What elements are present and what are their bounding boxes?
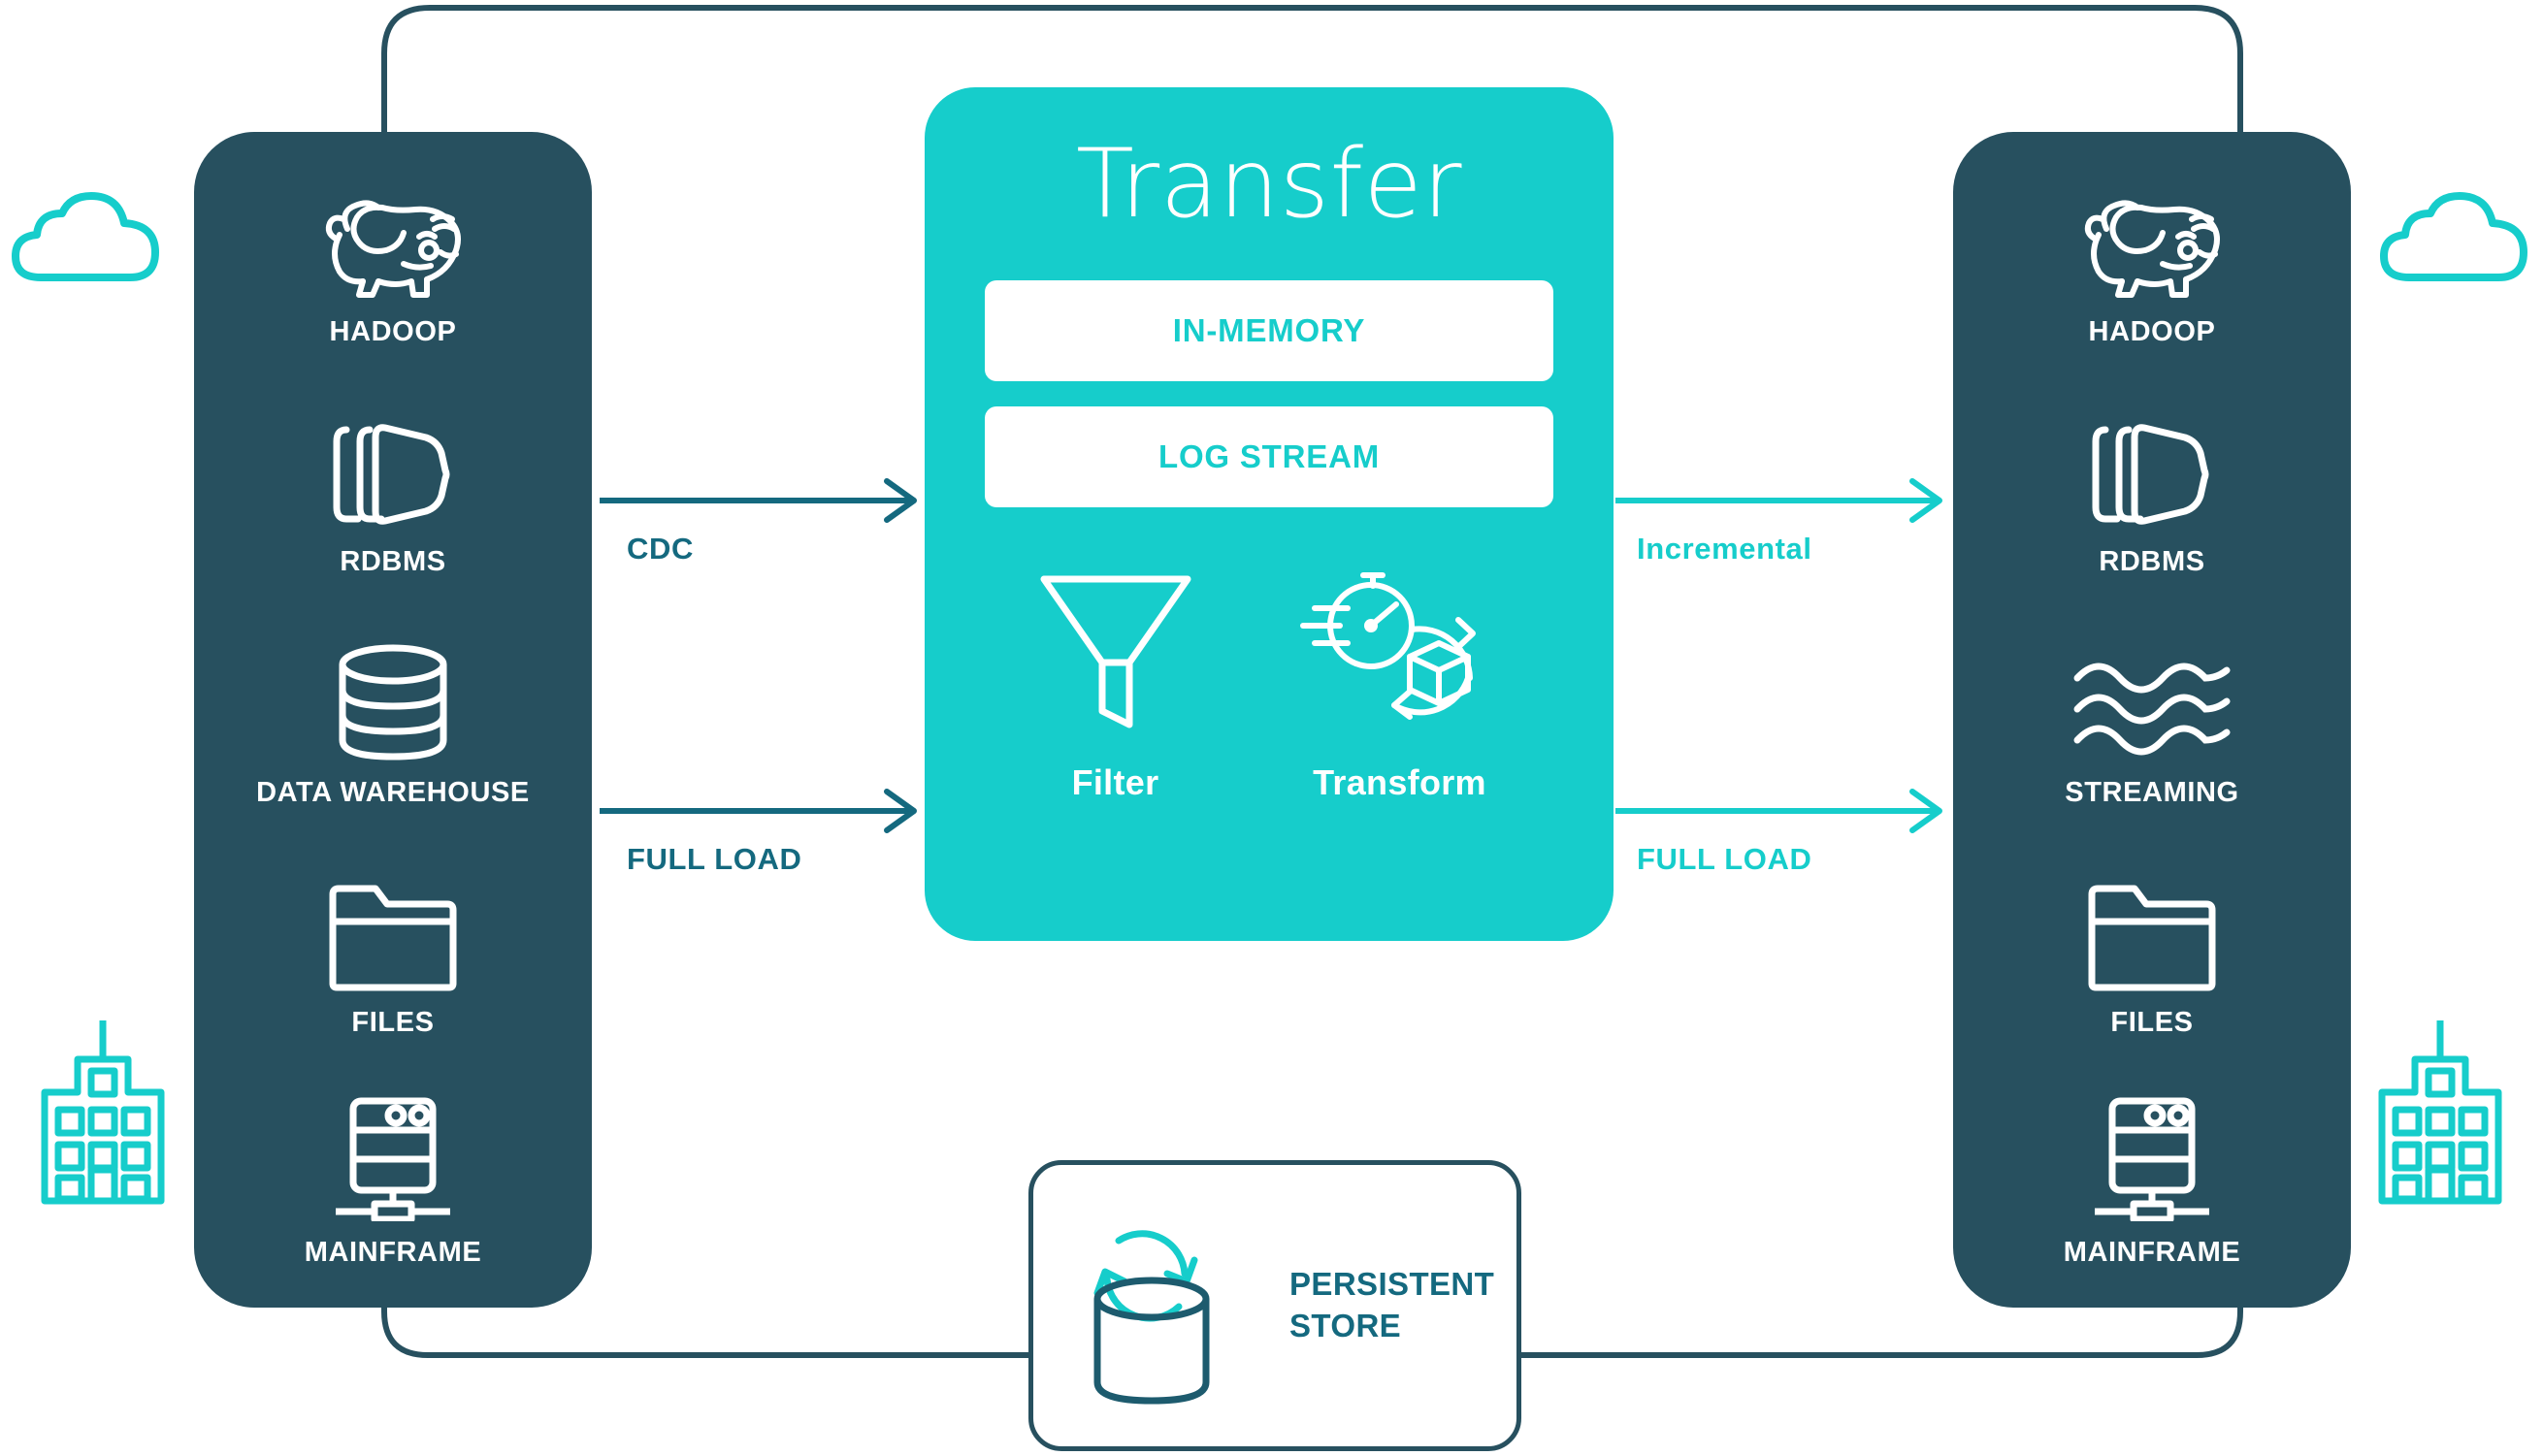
transfer-mode-log-stream[interactable]: LOG STREAM bbox=[985, 406, 1553, 507]
right-building-icon bbox=[2372, 1017, 2508, 1215]
flow-full-load-in[interactable]: FULL LOAD bbox=[600, 782, 925, 898]
source-panel: HADOOP RDBMS bbox=[194, 132, 592, 1308]
cylinder-disks-icon bbox=[329, 637, 457, 761]
source-item-files[interactable]: FILES bbox=[194, 867, 592, 1039]
stopwatch-cube-refresh-icon bbox=[1297, 569, 1503, 737]
source-item-rdbms[interactable]: RDBMS bbox=[194, 406, 592, 578]
database-stack-icon bbox=[2084, 406, 2220, 531]
target-item-label: MAINFRAME bbox=[2064, 1237, 2241, 1269]
persistent-store-label-line2: STORE bbox=[1289, 1306, 1494, 1347]
target-panel: HADOOP RDBMS bbox=[1953, 132, 2351, 1308]
target-item-label: HADOOP bbox=[2089, 316, 2216, 348]
cylinder-refresh-icon bbox=[1072, 1192, 1256, 1420]
source-item-data-warehouse[interactable]: DATA WAREHOUSE bbox=[194, 637, 592, 809]
source-item-label: FILES bbox=[351, 1007, 434, 1039]
target-item-streaming[interactable]: STREAMING bbox=[1953, 637, 2351, 809]
target-item-label: STREAMING bbox=[2065, 777, 2238, 809]
folder-icon bbox=[325, 867, 461, 991]
mainframe-server-icon bbox=[2087, 1097, 2217, 1221]
operation-label: Transform bbox=[1313, 762, 1486, 803]
target-item-files[interactable]: FILES bbox=[1953, 867, 2351, 1039]
source-item-label: RDBMS bbox=[340, 546, 445, 578]
source-item-label: MAINFRAME bbox=[305, 1237, 482, 1269]
right-cloud-icon bbox=[2378, 180, 2533, 302]
target-item-label: FILES bbox=[2110, 1007, 2193, 1039]
mainframe-server-icon bbox=[328, 1097, 458, 1221]
waves-icon bbox=[2070, 637, 2234, 761]
source-item-label: HADOOP bbox=[330, 316, 457, 348]
target-item-label: RDBMS bbox=[2099, 546, 2204, 578]
operation-filter[interactable]: Filter bbox=[1036, 569, 1195, 803]
flow-incremental[interactable]: Incremental bbox=[1615, 471, 1950, 588]
hadoop-elephant-icon bbox=[2070, 177, 2234, 301]
flow-label: FULL LOAD bbox=[1637, 842, 1811, 877]
persistent-store-label-line1: PERSISTENT bbox=[1289, 1264, 1494, 1306]
left-cloud-icon bbox=[10, 180, 165, 302]
left-building-icon bbox=[35, 1017, 171, 1215]
transfer-operations: Filter bbox=[985, 569, 1553, 803]
transfer-mode-in-memory[interactable]: IN-MEMORY bbox=[985, 280, 1553, 381]
target-item-mainframe[interactable]: MAINFRAME bbox=[1953, 1097, 2351, 1269]
persistent-store-card[interactable]: PERSISTENT STORE bbox=[1028, 1160, 1521, 1451]
operation-label: Filter bbox=[1072, 762, 1159, 803]
operation-transform[interactable]: Transform bbox=[1297, 569, 1503, 803]
target-item-rdbms[interactable]: RDBMS bbox=[1953, 406, 2351, 578]
source-item-label: DATA WAREHOUSE bbox=[256, 777, 530, 809]
database-stack-icon bbox=[325, 406, 461, 531]
transfer-title: Transfer bbox=[985, 130, 1553, 240]
flow-cdc[interactable]: CDC bbox=[600, 471, 925, 588]
diagram-canvas: HADOOP RDBMS bbox=[0, 0, 2543, 1456]
flow-label: Incremental bbox=[1637, 532, 1812, 566]
transfer-panel: Transfer IN-MEMORY LOG STREAM Filter bbox=[925, 87, 1614, 941]
folder-icon bbox=[2084, 867, 2220, 991]
target-item-hadoop[interactable]: HADOOP bbox=[1953, 177, 2351, 348]
source-item-hadoop[interactable]: HADOOP bbox=[194, 177, 592, 348]
funnel-icon bbox=[1036, 569, 1195, 737]
source-item-mainframe[interactable]: MAINFRAME bbox=[194, 1097, 592, 1269]
flow-full-load-out[interactable]: FULL LOAD bbox=[1615, 782, 1950, 898]
flow-label: CDC bbox=[627, 532, 694, 566]
hadoop-elephant-icon bbox=[310, 177, 475, 301]
persistent-store-label: PERSISTENT STORE bbox=[1289, 1264, 1494, 1347]
flow-label: FULL LOAD bbox=[627, 842, 801, 877]
